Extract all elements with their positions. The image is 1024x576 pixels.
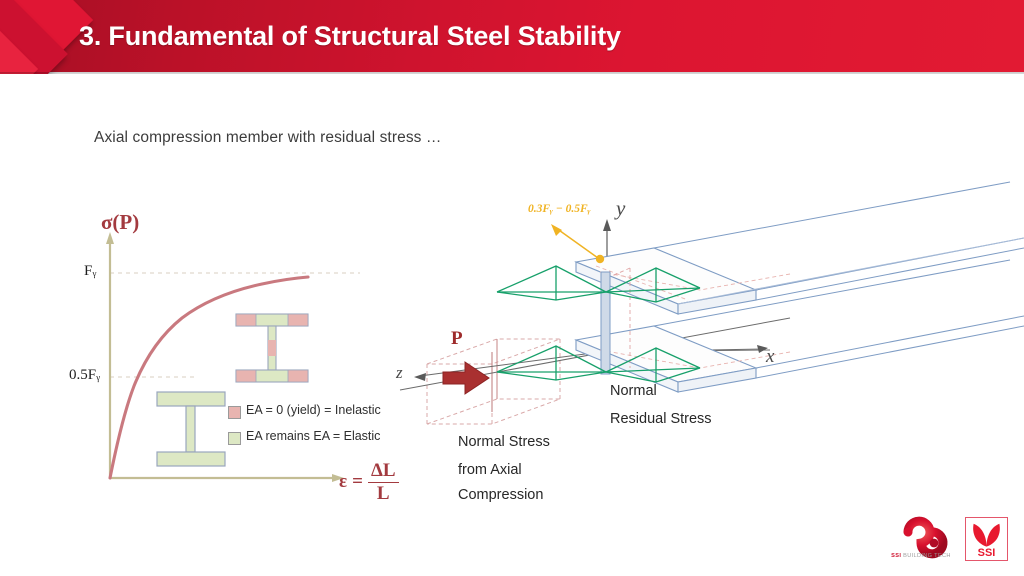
residual-stress-bottom <box>497 346 700 382</box>
axis-label-x: x <box>766 346 774 368</box>
slide-header: 3. Fundamental of Structural Steel Stabi… <box>0 0 1024 74</box>
x-axis-symbol: ε <box>339 471 347 493</box>
load-arrow-p <box>443 362 489 394</box>
logo-caption-rest: BUILDING TECH <box>901 553 951 559</box>
caption-axial-line1: Normal Stress <box>458 434 550 450</box>
legend-label-inelastic: EA = 0 (yield) = Inelastic <box>246 403 381 417</box>
axis-label-z: z <box>396 363 403 383</box>
slide-subtitle: Axial compression member with residual s… <box>94 129 442 147</box>
annotation-dot <box>596 255 604 263</box>
y-tick-fy: Fᵧ <box>84 263 96 280</box>
ssi-leaf-mark: SSI <box>966 518 1007 560</box>
x-axis-denominator: L <box>377 483 390 504</box>
legend-label-elastic: EA remains EA = Elastic <box>246 429 380 443</box>
x-axis-equals: = <box>352 471 363 493</box>
ssi-leaf-text: SSI <box>978 547 996 559</box>
section-partially-yielded <box>236 314 308 382</box>
stress-strain-curve <box>110 277 308 478</box>
logo-caption-bold: SSI <box>891 553 901 559</box>
caption-axial-line2: from Axial <box>458 462 522 478</box>
residual-stress-top <box>497 266 700 302</box>
axis-label-y: y <box>616 196 625 221</box>
top-flange-inner-dash-2 <box>596 266 688 300</box>
bottom-flange <box>576 326 756 392</box>
x-axis-leader <box>600 350 770 352</box>
section-fully-elastic <box>157 392 225 466</box>
slide-title: 3. Fundamental of Structural Steel Stabi… <box>79 21 621 52</box>
load-label-p: P <box>451 328 463 350</box>
top-flange-extension <box>654 182 1024 304</box>
ssi-leaf-logo: SSI <box>965 517 1008 561</box>
y-axis-arrowhead-3d <box>603 219 611 231</box>
header-shadow <box>0 72 1024 74</box>
x-axis-line <box>600 349 763 352</box>
y-tick-half-fy: 0.5Fᵧ <box>69 367 100 384</box>
annotation-leader <box>556 228 598 258</box>
caption-residual-line1: Normal <box>610 383 657 399</box>
y-axis-label: σ(P) <box>101 210 139 235</box>
top-flange <box>576 248 756 314</box>
x-axis-label: ε = ΔL L <box>339 461 399 504</box>
ssi-building-tech-logo <box>884 515 958 567</box>
ghost-section-axial <box>427 339 560 424</box>
ssi-building-tech-caption: SSI BUILDING TECH <box>884 553 958 559</box>
residual-stress-annotation: 0.3Fᵧ − 0.5Fᵧ <box>528 203 591 215</box>
x-axis-numerator: ΔL <box>368 461 399 483</box>
x-axis-fraction: ΔL L <box>368 461 399 504</box>
z-axis-line <box>420 352 600 376</box>
bottom-flange-inner-dash <box>600 350 790 368</box>
web-back-dash-2 <box>612 268 630 276</box>
top-flange-inner-dash <box>600 272 790 290</box>
beam-web <box>601 272 610 374</box>
bottom-flange-extension <box>654 260 1024 378</box>
z-axis-arrowhead <box>414 373 426 381</box>
logo-group: SSI BUILDING TECH SSI <box>884 515 1014 569</box>
legend-swatch-inelastic <box>228 406 241 419</box>
caption-axial-line3: Compression <box>458 487 543 503</box>
isometric-beam-diagram <box>400 182 1024 424</box>
caption-residual-line2: Residual Stress <box>610 411 712 427</box>
legend-swatch-elastic <box>228 432 241 445</box>
annotation-arrowhead <box>551 224 562 236</box>
